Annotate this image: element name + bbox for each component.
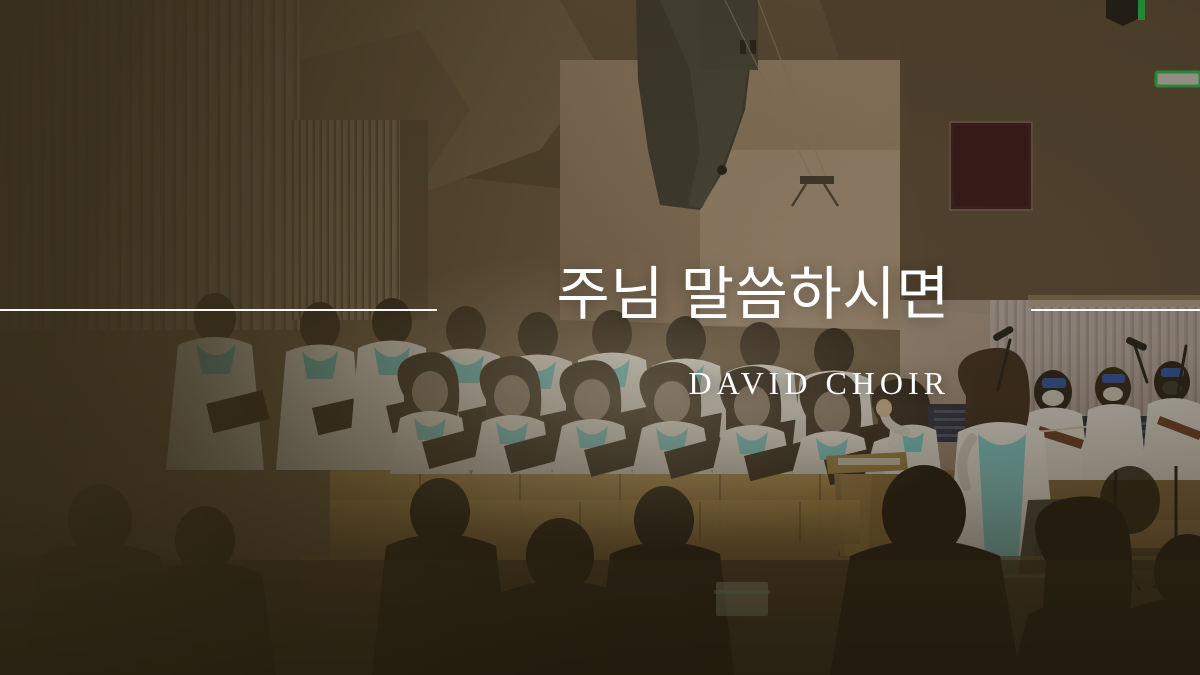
divider-line-right	[1031, 309, 1200, 311]
presentation-slide: 주님 말씀하시면 DAVID CHOIR	[0, 0, 1200, 675]
slide-title: 주님 말씀하시면	[0, 264, 950, 325]
slide-subtitle: DAVID CHOIR	[0, 366, 950, 401]
title-overlay: 주님 말씀하시면 DAVID CHOIR	[0, 0, 1200, 675]
